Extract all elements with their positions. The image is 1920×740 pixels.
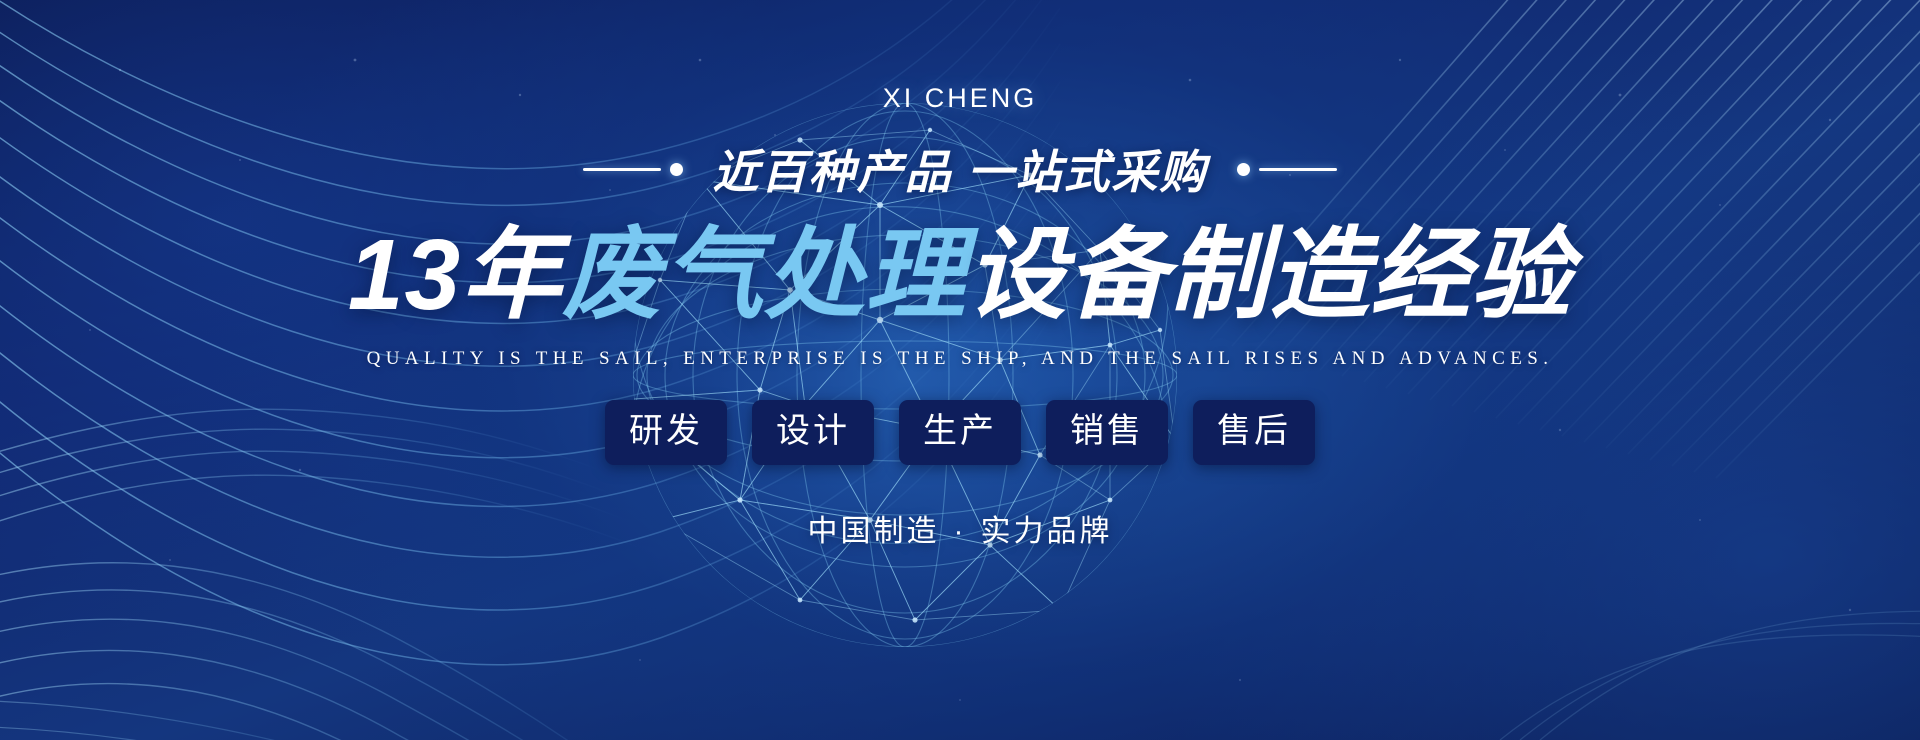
footer-separator: · — [940, 515, 981, 548]
subtitle-row: 近百种产品 一站式采购 — [583, 136, 1338, 202]
banner-content: XI CHENG 近百种产品 一站式采购 13年废气处理设备制造经验 QUALI… — [0, 0, 1920, 740]
chip-shengchan[interactable]: 生产 — [899, 400, 1021, 465]
headline-accent: 废气处理 — [562, 219, 966, 331]
headline-suffix: 设备制造经验 — [966, 219, 1572, 331]
rule-dot — [670, 163, 683, 176]
footer-right-text: 实力品牌 — [981, 515, 1113, 548]
footer-tagline: 中国制造·实力品牌 — [808, 506, 1113, 550]
right-rule-decoration — [1237, 163, 1337, 176]
left-rule-decoration — [583, 163, 683, 176]
rule-line — [1259, 168, 1337, 171]
chip-xiaoshou[interactable]: 销售 — [1046, 400, 1168, 465]
service-chip-list: 研发 设计 生产 销售 售后 — [605, 400, 1315, 465]
headline-prefix: 13年 — [348, 219, 562, 331]
chip-sheji[interactable]: 设计 — [752, 400, 874, 465]
footer-left-text: 中国制造 — [808, 515, 940, 548]
rule-dot — [1237, 163, 1250, 176]
chip-shouhou[interactable]: 售后 — [1193, 400, 1315, 465]
rule-line — [583, 168, 661, 171]
brand-name: XI CHENG — [883, 83, 1038, 114]
headline: 13年废气处理设备制造经验 — [348, 216, 1572, 334]
chip-yanfa[interactable]: 研发 — [605, 400, 727, 465]
hero-banner: XI CHENG 近百种产品 一站式采购 13年废气处理设备制造经验 QUALI… — [0, 0, 1920, 740]
english-tagline: QUALITY IS THE SAIL, ENTERPRISE IS THE S… — [367, 348, 1554, 370]
subtitle-text: 近百种产品 一站式采购 — [713, 136, 1208, 202]
